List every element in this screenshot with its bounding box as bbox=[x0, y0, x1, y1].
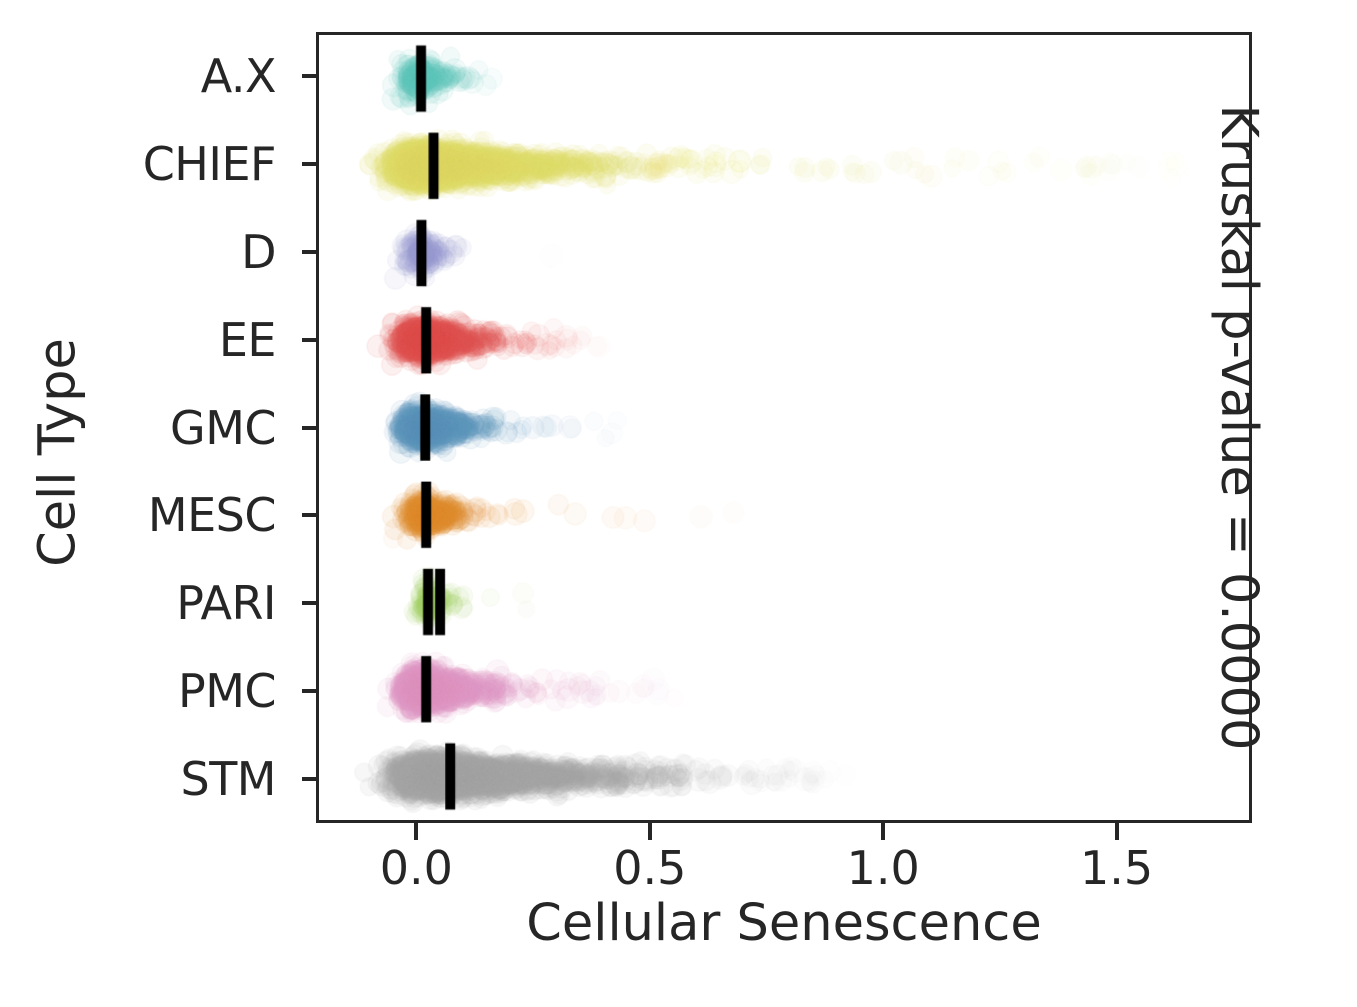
x-ticklabel-2: 1.0 bbox=[847, 845, 920, 891]
plot-area bbox=[316, 32, 1252, 823]
x-axis-label: Cellular Senescence bbox=[316, 898, 1252, 949]
y-ticklabel-gmc: GMC bbox=[170, 405, 276, 451]
y-ticklabel-chief: CHIEF bbox=[143, 141, 276, 187]
x-tickmark-2 bbox=[881, 823, 885, 840]
x-ticklabel-0: 0.0 bbox=[380, 845, 453, 891]
x-ticklabel-3: 1.5 bbox=[1080, 845, 1153, 891]
y-axis-ticks: A.XCHIEFDEEGMCMESCPARIPMCSTM bbox=[0, 32, 300, 823]
figure-canvas: Cell Type A.XCHIEFDEEGMCMESCPARIPMCSTM 0… bbox=[0, 0, 1357, 1007]
kruskal-pvalue-annotation: Kruskal p-value = 0.0000 bbox=[1208, 32, 1268, 823]
y-ticklabel-ee: EE bbox=[219, 317, 276, 363]
y-ticklabel-ax: A.X bbox=[201, 53, 276, 99]
x-tickmark-3 bbox=[1115, 823, 1119, 840]
x-tickmark-1 bbox=[648, 823, 652, 840]
y-ticklabel-pari: PARI bbox=[176, 580, 276, 626]
swarm-plot-canvas bbox=[319, 35, 1249, 820]
x-ticklabel-1: 0.5 bbox=[613, 845, 686, 891]
y-ticklabel-pmc: PMC bbox=[178, 668, 276, 714]
y-ticklabel-d: D bbox=[241, 229, 276, 275]
x-tickmark-0 bbox=[414, 823, 418, 840]
y-ticklabel-stm: STM bbox=[181, 756, 277, 802]
y-ticklabel-mesc: MESC bbox=[148, 492, 276, 538]
